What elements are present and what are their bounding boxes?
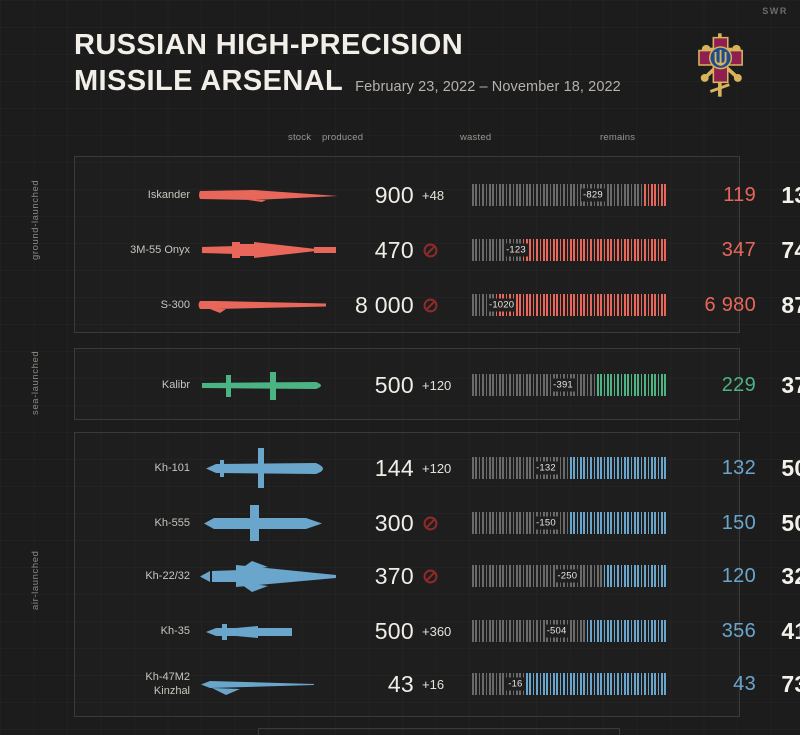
- wasted-value: -150: [534, 517, 558, 530]
- missile-name: Kalibr: [90, 377, 190, 393]
- column-headers: stock produced wasted remains: [0, 132, 800, 148]
- remains-segment: [604, 565, 668, 587]
- remains-segment: [587, 620, 668, 642]
- missile-silhouette-icon: [196, 172, 346, 218]
- missile-silhouette-icon: [196, 500, 346, 546]
- group-label-air-launched: air-launched: [30, 551, 41, 610]
- percent-remaining: 74%: [766, 237, 800, 264]
- remains-value: 347: [678, 239, 756, 262]
- produced-value: +48: [422, 188, 468, 203]
- table-row: Kh-101144+120-13213250%: [74, 441, 740, 495]
- missile-name: Kh-47M2Kinzhal: [90, 669, 190, 699]
- watermark: SWR: [762, 6, 788, 16]
- missile-name: 3M-55 Onyx: [90, 242, 190, 258]
- wasted-value: -1020: [487, 299, 516, 312]
- title-block: RUSSIAN HIGH-PRECISION MISSILE ARSENAL F…: [74, 28, 750, 99]
- missile-silhouette-icon: [196, 661, 346, 707]
- wasted-value: -391: [551, 379, 575, 392]
- stock-value: 900: [342, 182, 414, 209]
- missile-name: S-300: [90, 297, 190, 313]
- wasted-value: -504: [545, 625, 569, 638]
- percent-remaining: 87%: [766, 292, 800, 319]
- stock-value: 43: [342, 671, 414, 698]
- no-production-icon: [422, 297, 468, 314]
- column-header-wasted: wasted: [460, 132, 491, 143]
- table-row: Kh-47M2Kinzhal43+16-164373%: [74, 657, 740, 711]
- column-header-stock: stock: [288, 132, 311, 143]
- date-range-subtitle: February 23, 2022 – November 18, 2022: [355, 79, 621, 99]
- missile-name: Kh-555: [90, 515, 190, 531]
- remains-segment: [526, 673, 668, 695]
- wasted-remains-bar: -250: [472, 564, 672, 588]
- stock-value: 8 000: [342, 292, 414, 319]
- remains-segment: [570, 457, 668, 479]
- wasted-value: -132: [534, 462, 558, 475]
- missile-name: Kh-101: [90, 460, 190, 476]
- page-title-line2: MISSILE ARSENAL: [74, 64, 343, 100]
- wasted-segment: [472, 565, 604, 587]
- wasted-remains-bar: -132: [472, 456, 672, 480]
- missile-silhouette-icon: [196, 227, 346, 273]
- missile-name: Kh-35: [90, 623, 190, 639]
- table-row: Kh-555300-15015050%: [74, 496, 740, 550]
- wasted-remains-bar: -16: [472, 672, 672, 696]
- no-production-icon: [422, 297, 439, 314]
- missile-name: Kh-22/32: [90, 568, 190, 584]
- missile-silhouette-icon: [196, 282, 346, 328]
- infographic-page: SWR RUSSIAN HIGH-PRECISION MISSILE ARSEN…: [0, 0, 800, 735]
- percent-remaining: 50%: [766, 455, 800, 482]
- missile-silhouette-icon: [196, 362, 346, 408]
- table-row: 3M-55 Onyx470-12334774%: [74, 223, 740, 277]
- wasted-remains-bar: -123: [472, 238, 672, 262]
- stock-value: 370: [342, 563, 414, 590]
- percent-remaining: 37%: [766, 372, 800, 399]
- no-production-icon: [422, 242, 468, 259]
- percent-remaining: 73%: [766, 671, 800, 698]
- table-row: S-3008 000-10206 98087%: [74, 278, 740, 332]
- stock-value: 144: [342, 455, 414, 482]
- produced-value: +360: [422, 624, 468, 639]
- remains-segment: [570, 512, 668, 534]
- no-production-icon: [422, 515, 439, 532]
- percent-remaining: 50%: [766, 510, 800, 537]
- stock-value: 470: [342, 237, 414, 264]
- produced-value: +16: [422, 677, 468, 692]
- wasted-value: -829: [581, 189, 605, 202]
- produced-value: +120: [422, 461, 468, 476]
- percent-remaining: 13%: [766, 182, 800, 209]
- group-label-sea-launched: sea-launched: [30, 351, 41, 415]
- missile-silhouette-icon: [196, 553, 346, 599]
- remains-segment: [597, 374, 668, 396]
- wasted-value: -123: [504, 244, 528, 257]
- column-header-remains: remains: [600, 132, 635, 143]
- page-title-line1: RUSSIAN HIGH-PRECISION: [74, 28, 750, 64]
- wasted-segment: [472, 374, 597, 396]
- header: RUSSIAN HIGH-PRECISION MISSILE ARSENAL F…: [74, 28, 750, 128]
- percent-remaining: 32%: [766, 563, 800, 590]
- missile-name: Iskander: [90, 187, 190, 203]
- missile-silhouette-icon: [196, 608, 346, 654]
- remains-value: 120: [678, 565, 756, 588]
- stock-value: 300: [342, 510, 414, 537]
- remains-value: 132: [678, 457, 756, 480]
- column-header-produced: produced: [322, 132, 363, 143]
- table-row: Kh-22/32370-25012032%: [74, 549, 740, 603]
- percent-remaining: 41%: [766, 618, 800, 645]
- remains-value: 150: [678, 512, 756, 535]
- no-production-icon: [422, 242, 439, 259]
- remains-value: 119: [678, 184, 756, 207]
- wasted-remains-bar: -391: [472, 373, 672, 397]
- missile-silhouette-icon: [196, 445, 346, 491]
- ukrainian-armed-forces-emblem-icon: [686, 26, 758, 104]
- remains-segment: [644, 184, 668, 206]
- wasted-value: -16: [506, 678, 524, 691]
- stock-value: 500: [342, 618, 414, 645]
- remains-segment: [523, 239, 668, 261]
- wasted-remains-bar: -1020: [472, 293, 672, 317]
- wasted-segment: [472, 620, 587, 642]
- no-production-icon: [422, 515, 468, 532]
- remains-segment: [496, 294, 668, 316]
- no-production-icon: [422, 568, 439, 585]
- remains-value: 6 980: [678, 294, 756, 317]
- wasted-remains-bar: -504: [472, 619, 672, 643]
- remains-value: 229: [678, 374, 756, 397]
- wasted-value: -250: [555, 570, 579, 583]
- panel-bottom-edge: [258, 728, 620, 735]
- wasted-segment: [472, 184, 644, 206]
- remains-value: 43: [678, 673, 756, 696]
- table-row: Kalibr500+120-39122937%: [74, 358, 740, 412]
- remains-value: 356: [678, 620, 756, 643]
- wasted-remains-bar: -829: [472, 183, 672, 207]
- produced-value: +120: [422, 378, 468, 393]
- table-row: Kh-35500+360-50435641%: [74, 604, 740, 658]
- no-production-icon: [422, 568, 468, 585]
- stock-value: 500: [342, 372, 414, 399]
- wasted-remains-bar: -150: [472, 511, 672, 535]
- table-row: Iskander900+48-82911913%: [74, 168, 740, 222]
- group-label-ground-launched: ground-launched: [30, 180, 41, 260]
